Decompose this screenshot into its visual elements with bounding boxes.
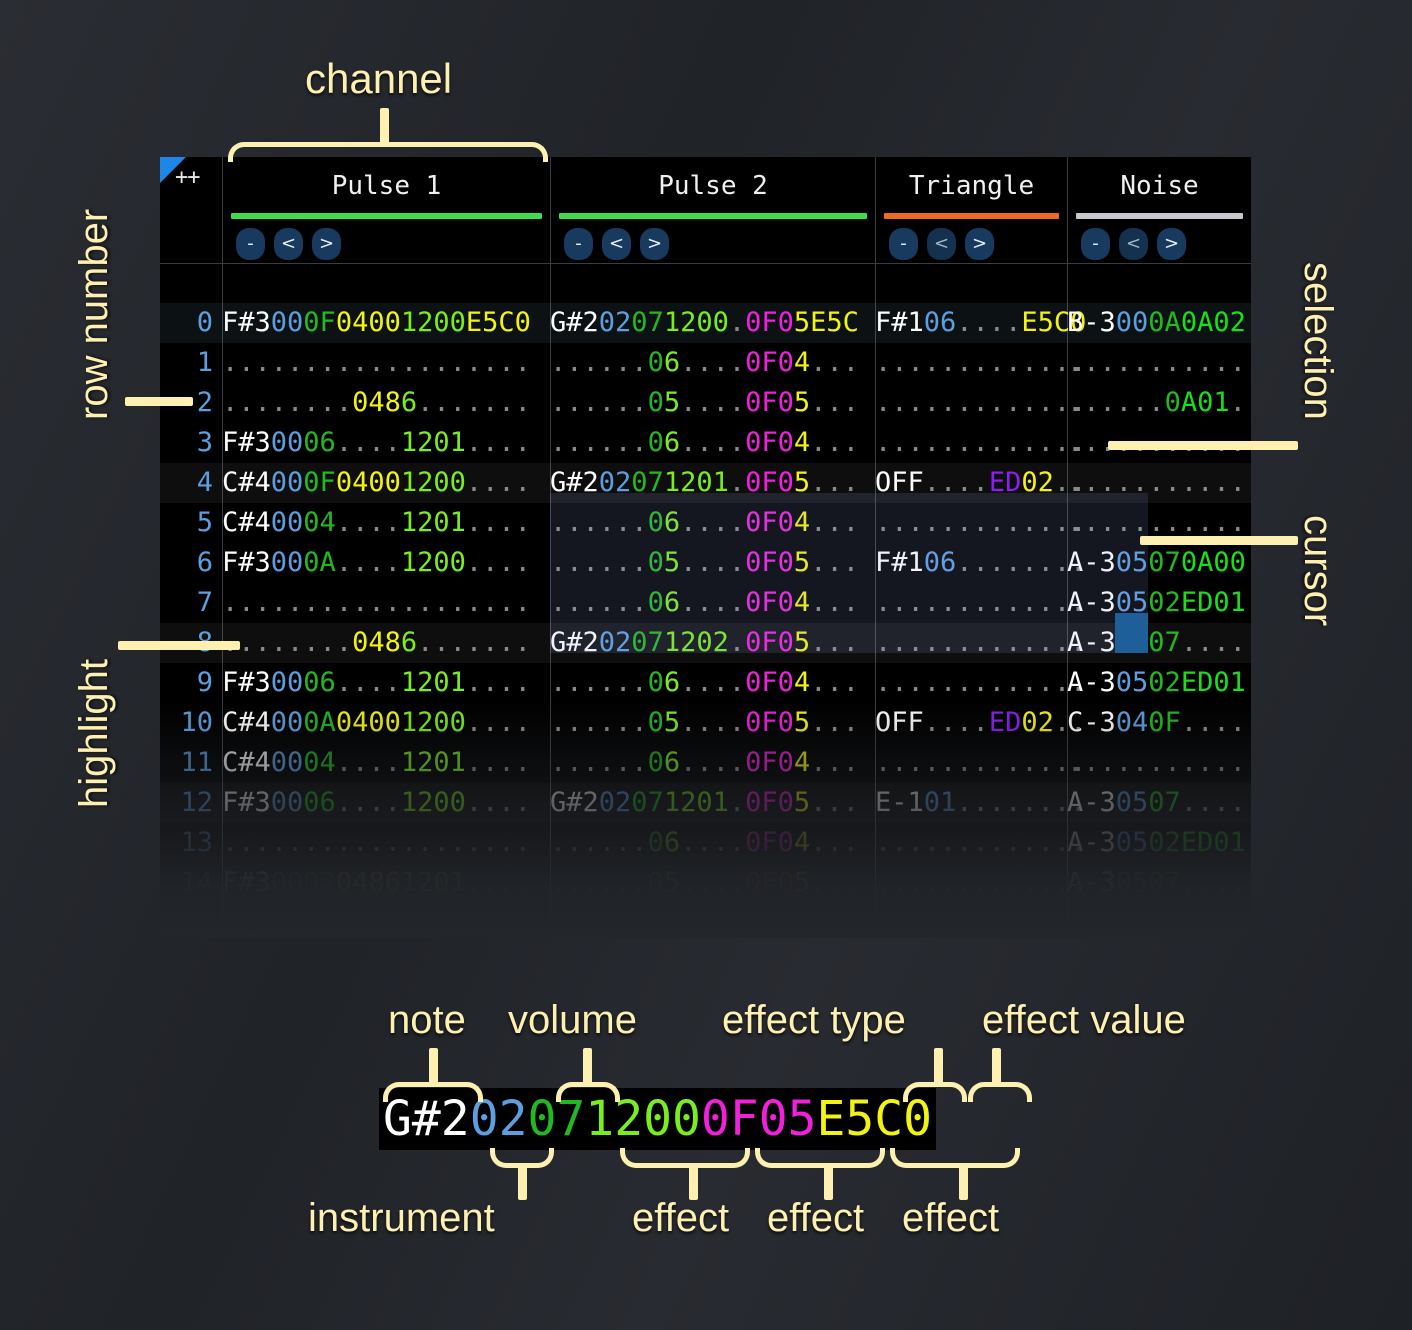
cell-noise[interactable]: ......0A01. [1067, 383, 1251, 423]
cell-dot: .. [599, 427, 632, 458]
cell-dot: .. [303, 587, 336, 618]
cell-vol: 0 [648, 347, 664, 378]
cell-fx3: 5 [794, 467, 810, 498]
cell-triangle[interactable]: F#106........ [875, 543, 1067, 583]
channel-header-noise[interactable]: Noise-<> [1067, 157, 1251, 263]
cell-pulse1[interactable]: F#30006....1201.... [222, 423, 550, 463]
pattern-row[interactable]: 15C-4000CED031200..........06....0F04...… [160, 903, 1251, 938]
cell-inst: 00 [271, 307, 304, 338]
cell-dot: . [631, 427, 647, 458]
cell-pulse2[interactable]: ......06....0F04... [550, 343, 875, 383]
cell-dot: ... [680, 667, 729, 698]
cell-dot: ... [550, 667, 599, 698]
row-number-label: 4 [160, 463, 222, 503]
cell-dot: ... [875, 747, 924, 778]
cell-pulse1[interactable]: C#4000A04001200.... [222, 703, 550, 743]
cell-note: E-1 [875, 787, 924, 818]
cell-dot: .. [599, 827, 632, 858]
cell-pulse2[interactable]: ......06....0F04... [550, 903, 875, 938]
cell-pulse1[interactable]: ........0486....... [222, 623, 550, 663]
cell-dot: ... [550, 427, 599, 458]
cell-fx1: 1200 [401, 547, 466, 578]
cell-dot: .... [1181, 747, 1246, 778]
cell-noise[interactable]: C-3040F.... [1067, 703, 1251, 743]
cell-dot: .. [303, 347, 336, 378]
cell-fx1: 1200 [401, 787, 466, 818]
cell-pulse1[interactable]: F#30006....1201.... [222, 663, 550, 703]
cell-dot: ... [875, 387, 924, 418]
cell-vol: 0 [648, 387, 664, 418]
cell-vol: 0F [303, 467, 336, 498]
cell-fxv: ED [989, 907, 1022, 938]
cell-inst: 00 [271, 427, 304, 458]
cell-triangle[interactable]: ............. [875, 663, 1067, 703]
cell-pulse2[interactable]: G#202071201.0F05... [550, 463, 875, 503]
cell-dot: ... [810, 747, 859, 778]
cell-pulse1[interactable]: F#30006....1200.... [222, 783, 550, 823]
cell-dot: . [729, 587, 745, 618]
cell-pulse1[interactable]: F#3000F04001200E5C0 [222, 303, 550, 343]
cell-dot: .. [924, 467, 957, 498]
cell-note: C-4 [222, 907, 271, 938]
cell-dot: .. [271, 347, 304, 378]
channel-header-bar: ++ Pulse 1-<>Pulse 2-<>Triangle-<>Noise-… [160, 157, 1251, 263]
cell-vol: 02 [303, 867, 336, 898]
cell-pulse2[interactable]: ......05....0F05... [550, 703, 875, 743]
cell-pulse1[interactable]: ........0486....... [222, 383, 550, 423]
cell-inst: 00 [1116, 307, 1149, 338]
channel-header-pulse-2[interactable]: Pulse 2-<> [550, 157, 875, 263]
row-number-label: 15 [160, 903, 222, 938]
row-number-label: 12 [160, 783, 222, 823]
legend-tick-volume [583, 1048, 592, 1084]
legend-bracket-effect-type [903, 1082, 967, 1102]
cell-dot: . [729, 507, 745, 538]
cell-dot: .. [599, 547, 632, 578]
cell-dot: ... [680, 347, 729, 378]
cell-dot: . [729, 787, 745, 818]
cell-dot: . [729, 427, 745, 458]
cell-note: C#4 [222, 747, 271, 778]
corner-plus-plus-label: ++ [175, 165, 200, 190]
cell-fx2: 0F0 [745, 387, 794, 418]
cell-fx2: 0F0 [745, 467, 794, 498]
cell-inst: 00 [271, 667, 304, 698]
channel-header-triangle[interactable]: Triangle-<> [875, 157, 1067, 263]
cell-dot: ... [810, 907, 859, 938]
cell-fxg: ED01 [1181, 587, 1246, 618]
cell-vol: 0A [303, 707, 336, 738]
cell-note: A-3 [1067, 547, 1116, 578]
cell-inst: 05 [1116, 867, 1149, 898]
pattern-row[interactable]: 6F#3000A....1200..........05....0F05...F… [160, 543, 1251, 583]
cell-dot: .... [1181, 787, 1246, 818]
cell-fx2: 0F05 [701, 1091, 817, 1147]
cell-dot: .... [956, 307, 1021, 338]
cell-fxg: A01 [1181, 387, 1230, 418]
pattern-row[interactable]: 7.........................06....0F04....… [160, 583, 1251, 623]
annotation-highlight-tick [118, 641, 240, 650]
cell-dot: . [729, 907, 745, 938]
cell-dot: .... [956, 547, 1021, 578]
cell-pulse2[interactable]: G#202071202.0F05... [550, 623, 875, 663]
cell-fx2: 0F0 [745, 827, 794, 858]
cell-inst: 02 [599, 467, 632, 498]
cell-fx3: 4 [794, 907, 810, 938]
cell-noise[interactable]: A-30507.... [1067, 783, 1251, 823]
cell-note: F#3 [222, 547, 271, 578]
cell-dot: ... [875, 867, 924, 898]
cell-dot: .. [924, 587, 957, 618]
cell-pulse1[interactable]: ................... [222, 823, 550, 863]
cell-dot: .. [1116, 347, 1149, 378]
cell-fx1: 6 [401, 627, 417, 658]
cell-dot: .... [466, 387, 531, 418]
cell-inst: 05 [1116, 587, 1149, 618]
cell-triangle[interactable]: ............. [875, 383, 1067, 423]
cell-note: C-3 [1067, 707, 1116, 738]
cell-vol: 07 [631, 467, 664, 498]
cell-triangle[interactable]: ............. [875, 823, 1067, 863]
cell-dot: ... [550, 747, 599, 778]
cell-pulse2[interactable]: G#202071201.0F05... [550, 783, 875, 823]
cell-pulse1[interactable]: ................... [222, 343, 550, 383]
row-number-label: 10 [160, 703, 222, 743]
cell-pulse2[interactable]: ......06....0F04... [550, 423, 875, 463]
cell-vol: 0 [1165, 387, 1181, 418]
cell-noise[interactable]: A-305070A00 [1067, 543, 1251, 583]
cell-fx1: 1201 [401, 427, 466, 458]
cell-vol: 0 [648, 747, 664, 778]
cell-dot: .. [956, 467, 989, 498]
channel-name-label: Triangle [876, 157, 1067, 213]
cell-dot: .. [924, 427, 957, 458]
cell-fx3: 4 [794, 507, 810, 538]
pattern-row[interactable]: 2........0486.............05....0F05....… [160, 383, 1251, 423]
cell-dot: ... [550, 827, 599, 858]
cell-pulse2[interactable]: ......05....0F05... [550, 863, 875, 903]
cell-vol: 06 [303, 787, 336, 818]
legend-tick-effect-b [824, 1166, 833, 1200]
cell-dot: .... [1181, 507, 1246, 538]
cell-noise[interactable]: ........... [1067, 463, 1251, 503]
cell-dot: .... [466, 347, 531, 378]
cell-noise[interactable]: A-30502ED01 [1067, 583, 1251, 623]
cell-triangle[interactable]: ............. [875, 863, 1067, 903]
cell-fx3: E5C0 [466, 307, 531, 338]
cell-triangle[interactable]: F#106....E5C0 [875, 303, 1067, 343]
cell-note: G#2 [550, 467, 599, 498]
legend-bracket-effect-a [620, 1148, 750, 1168]
channel-name-label: Pulse 2 [551, 157, 875, 213]
cell-dot: ... [550, 347, 599, 378]
cell-dot: . [631, 587, 647, 618]
cell-triangle[interactable]: OFF....ED02.. [875, 463, 1067, 503]
cell-pulse1[interactable]: C#40004....1201.... [222, 743, 550, 783]
cell-dot: .. [1116, 387, 1149, 418]
pattern-row[interactable]: 0F#3000F04001200E5C0G#202071200.0F05E5CF… [160, 303, 1251, 343]
cell-dot: ... [810, 627, 859, 658]
pattern-row[interactable]: 3F#30006....1201..........06....0F04....… [160, 423, 1251, 463]
cell-note: F#3 [222, 867, 271, 898]
cell-dot: . [631, 387, 647, 418]
cell-note: OFF [875, 467, 924, 498]
cell-inst: 05 [1116, 547, 1149, 578]
cell-triangle[interactable]: OFF....ED02.. [875, 903, 1067, 938]
cell-pulse2[interactable]: ......06....0F04... [550, 743, 875, 783]
cell-dot: .. [924, 387, 957, 418]
cell-fx1: 1201 [401, 507, 466, 538]
cell-fx3: 5 [794, 787, 810, 818]
cell-vol: 0F [303, 307, 336, 338]
cell-inst: 05 [1116, 627, 1149, 658]
cell-fx2: 0F0 [745, 667, 794, 698]
cell-dot: ... [417, 387, 466, 418]
cell-fx1: 6 [664, 427, 680, 458]
cell-triangle[interactable]: OFF....ED02.. [875, 703, 1067, 743]
pattern-editor[interactable]: ++ Pulse 1-<>Pulse 2-<>Triangle-<>Noise-… [160, 157, 1251, 938]
cell-fx1: 6 [664, 587, 680, 618]
pattern-row[interactable]: 5C#40004....1201..........06....0F04....… [160, 503, 1251, 543]
channel-prev-button[interactable]: < [1119, 228, 1148, 260]
cell-triangle[interactable]: ............. [875, 583, 1067, 623]
cell-fx3: 5 [794, 867, 810, 898]
annotation-highlight: highlight [72, 659, 117, 808]
channel-next-button[interactable]: > [640, 228, 669, 260]
cell-dot: .... [466, 907, 531, 938]
cell-fx1: 1201 [401, 867, 466, 898]
cell-noise[interactable]: ........... [1067, 343, 1251, 383]
cell-dot: ... [680, 387, 729, 418]
cell-pulse1[interactable]: F#3000A....1200.... [222, 543, 550, 583]
cell-dot: . [729, 547, 745, 578]
channel-prev-button[interactable]: < [274, 228, 303, 260]
cell-noise[interactable]: A-30507.... [1067, 623, 1251, 663]
pattern-row[interactable]: 4C#4000F04001200....G#202071201.0F05...O… [160, 463, 1251, 503]
cell-dot: .... [956, 507, 1021, 538]
cell-dot: .... [401, 827, 466, 858]
cell-dot: .. [924, 747, 957, 778]
cell-triangle[interactable]: ............. [875, 343, 1067, 383]
cell-vol: 07 [631, 307, 664, 338]
cell-pulse2[interactable]: ......05....0F05... [550, 383, 875, 423]
legend-tick-effect-type [934, 1048, 943, 1084]
cell-fx2: 0F0 [745, 747, 794, 778]
cell-note: F#3 [222, 787, 271, 818]
cell-dot: .... [466, 427, 531, 458]
cell-dot: ... [550, 547, 599, 578]
cell-dot: ... [680, 587, 729, 618]
cell-pulse1[interactable]: C#4000F04001200.... [222, 463, 550, 503]
cell-triangle[interactable]: ............. [875, 503, 1067, 543]
cell-dot: .... [336, 587, 401, 618]
cell-pulse2[interactable]: G#202071200.0F05E5C [550, 303, 875, 343]
cell-noise[interactable]: B-3000A0A02 [1067, 303, 1251, 343]
cell-dot: .... [466, 507, 531, 538]
cell-fx1: 6 [664, 507, 680, 538]
cell-pulse2[interactable]: ......06....0F04... [550, 663, 875, 703]
cell-note: F#3 [222, 667, 271, 698]
cell-noise[interactable]: A-30502ED01 [1067, 823, 1251, 863]
cell-pulse1[interactable]: C-4000CED031200.... [222, 903, 550, 938]
channel-next-button[interactable]: > [965, 228, 994, 260]
channel-mute-button[interactable]: - [236, 228, 265, 260]
cell-dot: .... [1181, 627, 1246, 658]
cell-dot: ... [550, 387, 599, 418]
cell-dot: .. [303, 387, 336, 418]
pattern-row[interactable]: 13.........................06....0F04...… [160, 823, 1251, 863]
channel-prev-button[interactable]: < [602, 228, 631, 260]
cell-noise[interactable]: A-30502ED01 [1067, 663, 1251, 703]
cell-dot: .... [466, 667, 531, 698]
cell-dot: .... [956, 587, 1021, 618]
cell-pulse1[interactable]: C#40004....1201.... [222, 503, 550, 543]
cell-dot: .. [599, 747, 632, 778]
cell-note: A-3 [1067, 627, 1116, 658]
cell-dot: . [729, 827, 745, 858]
cell-dot: ... [875, 667, 924, 698]
cell-triangle[interactable]: ............. [875, 623, 1067, 663]
cell-dot: . [631, 707, 647, 738]
channel-button-group: -<> [1068, 219, 1251, 260]
cell-vol: 04 [303, 507, 336, 538]
cell-vol: 0 [648, 667, 664, 698]
cell-pulse2[interactable]: ......06....0F04... [550, 503, 875, 543]
cell-dot: ... [810, 867, 859, 898]
cell-dot: . [1230, 387, 1246, 418]
cell-triangle[interactable]: ............. [875, 743, 1067, 783]
pattern-row[interactable]: 14F#3000204861201..........05....0F05...… [160, 863, 1251, 903]
cell-pulse1[interactable]: F#3000204861201.... [222, 863, 550, 903]
cell-fx2: 0F0 [745, 707, 794, 738]
cell-triangle[interactable]: E-101........ [875, 783, 1067, 823]
cell-inst: 00 [271, 747, 304, 778]
cell-fxg: ED01 [1181, 827, 1246, 858]
cell-note: G#2 [550, 787, 599, 818]
cell-fx2: 0F0 [745, 787, 794, 818]
channel-prev-button[interactable]: < [927, 228, 956, 260]
cell-dot: .. [599, 667, 632, 698]
cell-fx1: 6 [664, 667, 680, 698]
cell-inst: 02 [599, 627, 632, 658]
channel-mute-button[interactable]: - [889, 228, 918, 260]
cell-dot: . [729, 627, 745, 658]
cell-dot: ... [550, 707, 599, 738]
legend-label-note: note [388, 998, 466, 1043]
channel-next-button[interactable]: > [312, 228, 341, 260]
cell-noise[interactable]: A-30507.... [1067, 863, 1251, 903]
cell-triangle[interactable]: ............. [875, 423, 1067, 463]
channel-next-button[interactable]: > [1157, 228, 1186, 260]
cell-pulse1[interactable]: ................... [222, 583, 550, 623]
cell-dot: .... [336, 507, 401, 538]
cell-fx2: 0F0 [745, 627, 794, 658]
cell-fx1: 1200 [401, 307, 466, 338]
cell-vol: 07 [1148, 787, 1181, 818]
legend-tick-effect-value [992, 1048, 1001, 1084]
cell-dot: . [631, 547, 647, 578]
pattern-row[interactable]: 10C#4000A04001200..........05....0F05...… [160, 703, 1251, 743]
cell-vol: 0C [303, 907, 336, 938]
cell-dot: .... [956, 387, 1021, 418]
cell-vol: 0A [303, 547, 336, 578]
cell-dot: ... [222, 827, 271, 858]
cell-dot: .... [1181, 707, 1246, 738]
annotation-cursor-tick [1140, 536, 1298, 545]
pattern-row[interactable]: 9F#30006....1201..........06....0F04....… [160, 663, 1251, 703]
pattern-row[interactable]: 1.........................06....0F04....… [160, 343, 1251, 383]
legend-bracket-instrument [490, 1148, 554, 1168]
cell-dot: .. [956, 707, 989, 738]
cell-noise[interactable]: ........... [1067, 743, 1251, 783]
cell-fx3: 048 [352, 387, 401, 418]
cell-fx3: 0400 [336, 307, 401, 338]
cell-dot: ... [222, 347, 271, 378]
cell-dot: ... [680, 747, 729, 778]
cell-dot: ... [550, 907, 599, 938]
row-number-label: 9 [160, 663, 222, 703]
cell-dot: .... [336, 787, 401, 818]
cell-note: G#2 [550, 307, 599, 338]
cell-fx1: 1200 [664, 307, 729, 338]
cell-dot: .... [401, 587, 466, 618]
cell-dot: ... [1067, 387, 1116, 418]
pattern-grid[interactable]: 0F#3000F04001200E5C0G#202071200.0F05E5CF… [160, 263, 1251, 938]
cell-vol: 07 [1148, 867, 1181, 898]
cell-pulse2[interactable]: ......05....0F05... [550, 543, 875, 583]
channel-mute-button[interactable]: - [1081, 228, 1110, 260]
cell-dot: . [729, 747, 745, 778]
channel-header-pulse-1[interactable]: Pulse 1-<> [222, 157, 550, 263]
cell-noise[interactable]: A-30502ED01 [1067, 903, 1251, 938]
pattern-row[interactable]: 8........0486.......G#202071202.0F05....… [160, 623, 1251, 663]
cell-dot: .... [956, 347, 1021, 378]
row-number-label: 3 [160, 423, 222, 463]
cell-note: A-3 [1067, 827, 1116, 858]
pattern-corner-marker[interactable]: ++ [160, 157, 222, 209]
pattern-row[interactable]: 11C#40004....1201..........06....0F04...… [160, 743, 1251, 783]
cell-dot: . [729, 667, 745, 698]
pattern-row[interactable]: 12F#30006....1200....G#202071201.0F05...… [160, 783, 1251, 823]
cell-fx3: 4 [794, 347, 810, 378]
cell-pulse2[interactable]: ......06....0F04... [550, 823, 875, 863]
cell-fx1: 1201 [401, 747, 466, 778]
cell-dot: .... [956, 787, 1021, 818]
cell-dot: .. [1116, 467, 1149, 498]
cell-vol: 0 [648, 827, 664, 858]
cell-note: OFF [875, 907, 924, 938]
cell-dot: .. [599, 867, 632, 898]
cell-dot: . [729, 347, 745, 378]
cell-dot: .. [1148, 347, 1181, 378]
cell-dot: .... [466, 587, 531, 618]
legend-label-effect-type: effect type [722, 998, 906, 1043]
cell-fx2: 0F0 [745, 347, 794, 378]
cell-dot: . [336, 387, 352, 418]
cell-vol: 0 [648, 587, 664, 618]
cell-fx3: 5E5C [794, 307, 859, 338]
cell-fxg: 0A02 [1181, 307, 1246, 338]
cell-dot: . [631, 867, 647, 898]
cell-fx3: ED03 [336, 907, 401, 938]
cell-dot: . [729, 387, 745, 418]
cell-pulse2[interactable]: ......06....0F04... [550, 583, 875, 623]
annotation-selection: selection [1295, 262, 1340, 420]
cell-inst: 00 [271, 467, 304, 498]
channel-mute-button[interactable]: - [564, 228, 593, 260]
annotation-row-number-tick [125, 397, 193, 406]
cell-inst: 05 [1116, 667, 1149, 698]
